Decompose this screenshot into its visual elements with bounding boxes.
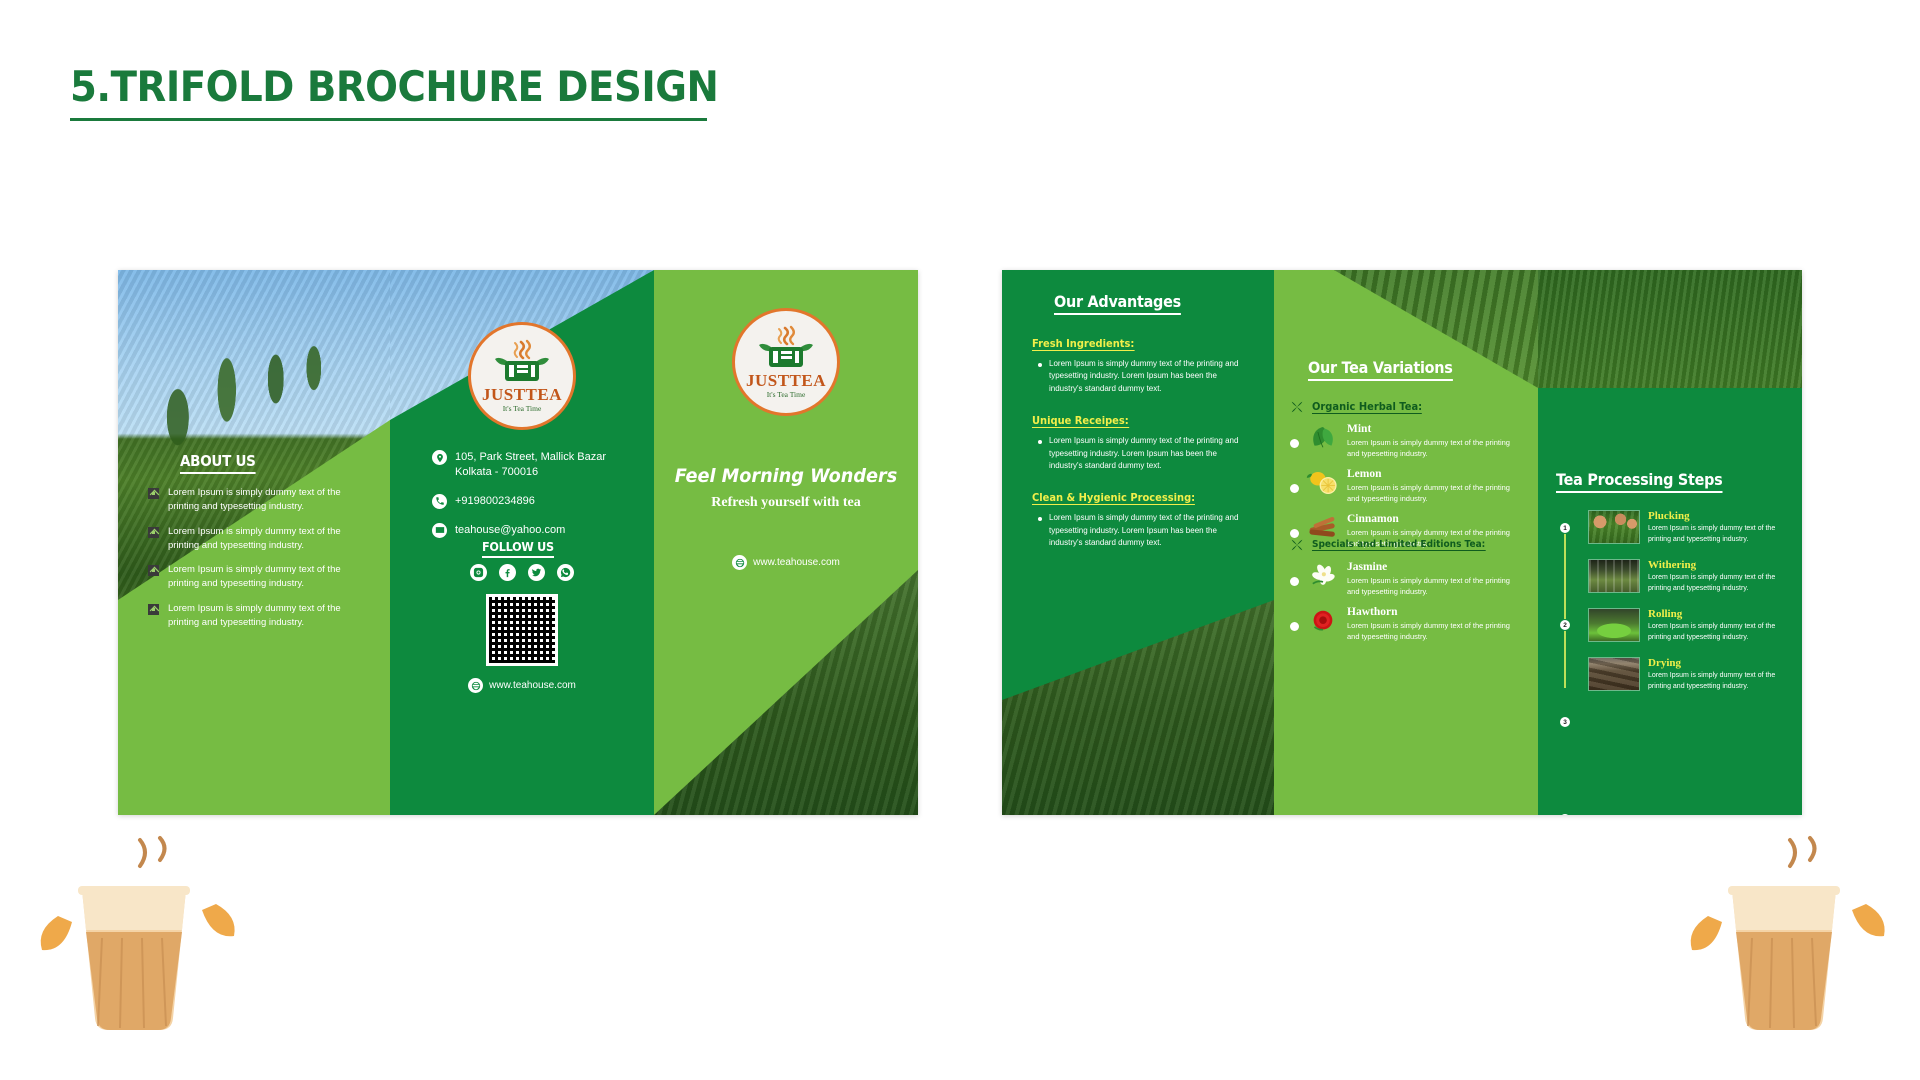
brand-tagline: It's Tea Time [767, 390, 806, 399]
address-line-2: Kolkata - 700016 [455, 465, 606, 480]
right-tea-glass-decoration [1670, 820, 1900, 1050]
variations-group: Organic Herbal Tea: Mint Lorem Ipsum is … [1290, 400, 1524, 549]
follow-us-block: FOLLOW US [390, 538, 654, 558]
social-icons-row [390, 564, 654, 581]
processing-heading-wrap: Tea Processing Steps [1556, 470, 1741, 493]
variations-group-header: Organic Herbal Tea: [1290, 400, 1524, 414]
globe-icon [732, 555, 747, 570]
bullet-dot [1290, 529, 1299, 538]
contact-email[interactable]: teahouse@yahoo.com [432, 523, 637, 538]
brochure-design-page: 5.TRIFOLD BROCHURE DESIGN ABOUT US Lorem… [0, 0, 1920, 1080]
follow-us-heading: FOLLOW US [482, 539, 554, 558]
tea-name: Mint [1347, 423, 1524, 436]
step-name: Withering [1648, 559, 1792, 571]
bullet-dot [1290, 577, 1299, 586]
advantages-heading-wrap: Our Advantages [1054, 292, 1195, 315]
variations-group-title: Organic Herbal Tea: [1312, 400, 1422, 414]
about-list: Lorem Ipsum is simply dummy text of the … [148, 486, 364, 640]
tea-item: Mint Lorem Ipsum is simply dummy text of… [1290, 423, 1524, 459]
email-address: teahouse@yahoo.com [455, 523, 565, 538]
variations-group-title: Specials and Limited Editions Tea: [1312, 539, 1485, 551]
globe-icon [468, 678, 483, 693]
advantage-body: Lorem Ipsum is simply dummy text of the … [1049, 435, 1250, 472]
bullet-square-icon [148, 604, 159, 615]
advantage-title: Fresh Ingredients: [1032, 337, 1134, 351]
leaf-cross-icon [1290, 400, 1304, 414]
qr-code[interactable] [486, 594, 558, 666]
bullet-dot [1290, 622, 1299, 631]
advantage-title: Unique Receipes: [1032, 414, 1129, 428]
advantages-list: Fresh Ingredients: Lorem Ipsum is simply… [1032, 334, 1250, 550]
bullet-dot [1038, 363, 1042, 367]
tea-name: Lemon [1347, 468, 1524, 481]
cover-website-row[interactable]: www.teahouse.com [654, 555, 918, 570]
advantage-item: Fresh Ingredients: Lorem Ipsum is simply… [1032, 334, 1250, 395]
bullet-square-icon [148, 565, 159, 576]
advantage-item: Clean & Hygienic Processing: Lorem Ipsum… [1032, 488, 1250, 549]
panel-about-us: ABOUT US Lorem Ipsum is simply dummy tex… [118, 270, 390, 815]
panel-processing-steps: Tea Processing Steps 1 Plucking Lorem Ip… [1538, 270, 1802, 815]
contact-phone[interactable]: +919800234896 [432, 494, 637, 509]
step-desc: Lorem Ipsum is simply dummy text of the … [1648, 524, 1792, 545]
cover-subhead: Refresh yourself with tea [654, 495, 918, 511]
drying-photo [1588, 657, 1640, 691]
tea-cup-logo-icon [491, 339, 553, 383]
variations-heading: Our Tea Variations [1308, 358, 1453, 381]
brand-name: JUSTTEA [482, 386, 562, 403]
location-pin-icon [432, 450, 447, 465]
about-item-text: Lorem Ipsum is simply dummy text of the … [168, 563, 364, 592]
step-desc: Lorem Ipsum is simply dummy text of the … [1648, 622, 1792, 643]
website-row[interactable]: www.teahouse.com [390, 678, 654, 693]
mint-leaf-icon [1306, 423, 1340, 453]
step-number: 1 [1559, 522, 1571, 534]
qr-code-pattern [489, 597, 555, 663]
about-heading: ABOUT US [180, 452, 256, 474]
step-desc: Lorem Ipsum is simply dummy text of the … [1648, 671, 1792, 692]
about-list-item: Lorem Ipsum is simply dummy text of the … [148, 525, 364, 554]
bullet-dot [1290, 439, 1299, 448]
tea-item: Hawthorn Lorem Ipsum is simply dummy tex… [1290, 606, 1524, 642]
variations-heading-wrap: Our Tea Variations [1308, 358, 1469, 381]
brand-tagline: It's Tea Time [503, 404, 542, 413]
advantage-body: Lorem Ipsum is simply dummy text of the … [1049, 358, 1250, 395]
step-desc: Lorem Ipsum is simply dummy text of the … [1648, 573, 1792, 594]
advantage-title: Clean & Hygienic Processing: [1032, 491, 1195, 505]
bullet-dot [1038, 517, 1042, 521]
tea-item: Lemon Lorem Ipsum is simply dummy text o… [1290, 468, 1524, 504]
brand-name: JUSTTEA [746, 372, 826, 389]
twitter-icon[interactable] [528, 564, 545, 581]
about-list-item: Lorem Ipsum is simply dummy text of the … [148, 602, 364, 631]
withering-photo [1588, 559, 1640, 593]
tea-desc: Lorem Ipsum is simply dummy text of the … [1347, 482, 1524, 505]
about-heading-wrap: ABOUT US [180, 452, 264, 474]
about-item-text: Lorem Ipsum is simply dummy text of the … [168, 486, 364, 515]
about-list-item: Lorem Ipsum is simply dummy text of the … [148, 563, 364, 592]
step-name: Rolling [1648, 608, 1792, 620]
panel-contact: JUSTTEA It's Tea Time 105, Park Street, … [390, 270, 654, 815]
bullet-dot [1290, 484, 1299, 493]
jasmine-flower-icon [1306, 561, 1340, 591]
about-item-text: Lorem Ipsum is simply dummy text of the … [168, 525, 364, 554]
panel-cover: JUSTTEA It's Tea Time Feel Morning Wonde… [654, 270, 918, 815]
about-item-text: Lorem Ipsum is simply dummy text of the … [168, 602, 364, 631]
processing-step: 4 Drying Lorem Ipsum is simply dummy tex… [1550, 657, 1792, 692]
tea-desc: Lorem Ipsum is simply dummy text of the … [1347, 575, 1524, 598]
brochure-back-side: Our Advantages Fresh Ingredients: Lorem … [1002, 270, 1802, 815]
tea-name: Hawthorn [1347, 606, 1524, 619]
hawthorn-flower-icon [1306, 606, 1340, 636]
tea-name: Jasmine [1347, 561, 1524, 574]
advantage-body: Lorem Ipsum is simply dummy text of the … [1049, 512, 1250, 549]
phone-number: +919800234896 [455, 494, 535, 509]
cover-headline-block: Feel Morning Wonders Refresh yourself wi… [654, 465, 918, 511]
processing-step: 2 Withering Lorem Ipsum is simply dummy … [1550, 559, 1792, 594]
brand-logo: JUSTTEA It's Tea Time [732, 308, 840, 416]
leaf-cross-icon [1290, 538, 1304, 552]
facebook-icon[interactable] [499, 564, 516, 581]
about-list-item: Lorem Ipsum is simply dummy text of the … [148, 486, 364, 515]
brochure-front-side: ABOUT US Lorem Ipsum is simply dummy tex… [118, 270, 918, 815]
left-tea-glass-decoration [20, 820, 250, 1050]
variations-group-header: Specials and Limited Editions Tea: [1290, 538, 1524, 552]
website-url: www.teahouse.com [489, 680, 576, 691]
cover-website-url: www.teahouse.com [753, 557, 840, 568]
bullet-square-icon [148, 527, 159, 538]
contact-block: 105, Park Street, Mallick Bazar Kolkata … [432, 450, 637, 538]
page-title-underline [70, 118, 707, 121]
step-name: Plucking [1648, 510, 1792, 522]
tea-name: Cinnamon [1347, 513, 1524, 526]
processing-step: 3 Rolling Lorem Ipsum is simply dummy te… [1550, 608, 1792, 643]
phone-icon [432, 494, 447, 509]
envelope-icon [432, 523, 447, 538]
tea-item: Jasmine Lorem Ipsum is simply dummy text… [1290, 561, 1524, 597]
processing-step: 1 Plucking Lorem Ipsum is simply dummy t… [1550, 510, 1792, 545]
processing-heading: Tea Processing Steps [1556, 470, 1722, 493]
brand-logo: JUSTTEA It's Tea Time [468, 322, 576, 430]
bullet-square-icon [148, 488, 159, 499]
tea-cup-logo-icon [755, 325, 817, 369]
step-name: Drying [1648, 657, 1792, 669]
instagram-icon[interactable] [470, 564, 487, 581]
panel-tea-variations: Our Tea Variations Organic Herbal Tea: [1274, 270, 1538, 815]
rolling-photo [1588, 608, 1640, 642]
lemon-icon [1306, 468, 1340, 498]
page-title: 5.TRIFOLD BROCHURE DESIGN [70, 62, 718, 111]
tea-desc: Lorem Ipsum is simply dummy text of the … [1347, 437, 1524, 460]
advantage-item: Unique Receipes: Lorem Ipsum is simply d… [1032, 411, 1250, 472]
cover-headline: Feel Morning Wonders [663, 465, 909, 487]
advantages-heading: Our Advantages [1054, 292, 1181, 315]
processing-steps-list: 1 Plucking Lorem Ipsum is simply dummy t… [1550, 510, 1792, 706]
bullet-dot [1038, 440, 1042, 444]
panel-advantages: Our Advantages Fresh Ingredients: Lorem … [1002, 270, 1274, 815]
variations-group: Specials and Limited Editions Tea: [1290, 538, 1524, 642]
whatsapp-icon[interactable] [557, 564, 574, 581]
tea-desc: Lorem Ipsum is simply dummy text of the … [1347, 620, 1524, 643]
plucking-photo [1588, 510, 1640, 544]
address-line-1: 105, Park Street, Mallick Bazar [455, 450, 606, 465]
contact-address: 105, Park Street, Mallick Bazar Kolkata … [432, 450, 637, 480]
